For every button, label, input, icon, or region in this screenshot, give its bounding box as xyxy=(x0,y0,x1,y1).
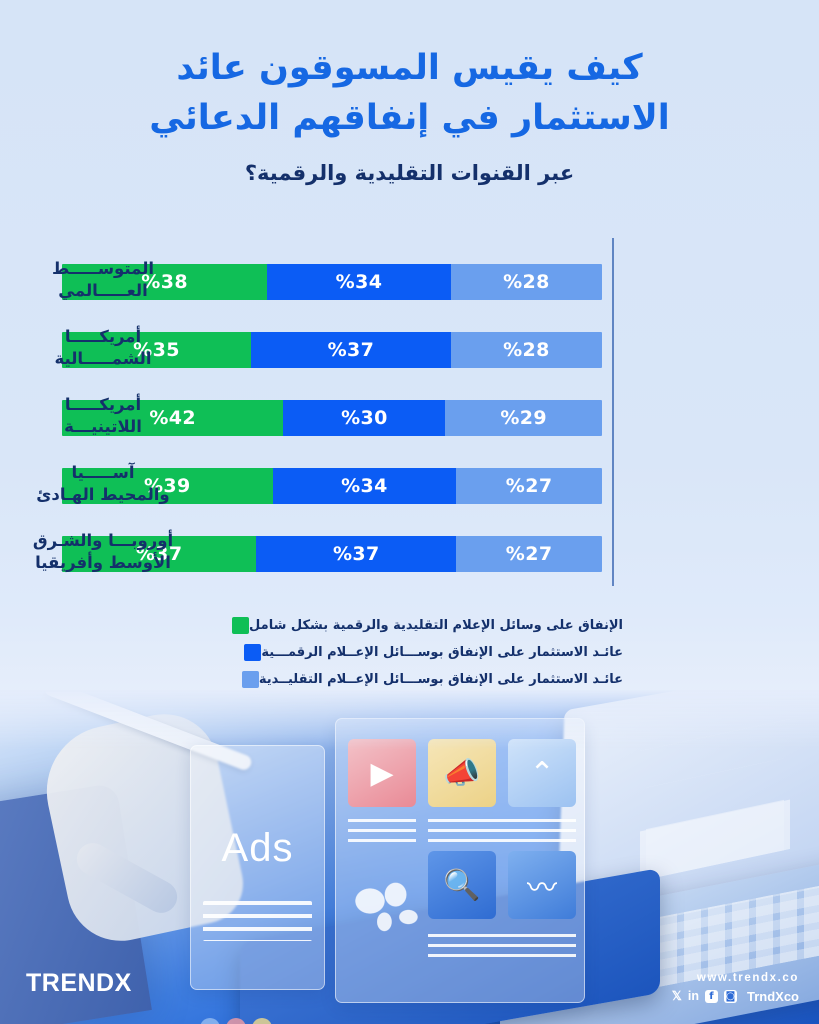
waveform-tile: 〰 xyxy=(508,851,576,919)
pie-dot-icon xyxy=(252,1018,272,1024)
bar-segment-digital: %34 xyxy=(273,468,457,504)
photo-top-fade xyxy=(0,690,819,750)
title-line-1: كيف يقيس المسوقون عائد xyxy=(70,44,749,94)
website-url[interactable]: www.trendx.co xyxy=(672,972,799,984)
legend-item-digital: عائـد الاستثمار على الإنفاق بوســـائل ال… xyxy=(220,639,623,666)
category-label-line: اللاتينيـــة xyxy=(10,416,196,438)
legend-item-traditional: عائـد الاستثمار على الإنفاق بوســـائل ال… xyxy=(220,666,623,693)
waveform-icon: 〰 xyxy=(508,851,576,919)
footer-contact: www.trendx.co 𝕏 in f ◙ TrndXco xyxy=(672,972,799,1004)
legend-item-overall: الإنفاق على وسائل الإعلام التقليدية والر… xyxy=(220,612,623,639)
brand-logo: TRENDX xyxy=(26,969,132,998)
category-label-line: آســـــيا xyxy=(10,462,196,484)
chart-rows: %28 %34 %38 المتوســـــط العـــــالمي %2… xyxy=(0,238,819,578)
legend-swatch-blue xyxy=(244,644,261,661)
pie-dot-icon xyxy=(226,1018,246,1024)
bar-segment-traditional: %28 xyxy=(451,332,602,368)
bar-segment-digital: %37 xyxy=(251,332,451,368)
card-text-lines xyxy=(348,819,416,849)
category-label-line: أمريكـــــا xyxy=(10,326,196,348)
chart-row: %28 %37 %35 أمريكـــــا الشمـــــالية xyxy=(0,306,819,374)
category-label: أوروبـــا والشـرق الأوسط وأفريقيا xyxy=(10,530,196,574)
page-subtitle: عبر القنوات التقليدية والرقمية؟ xyxy=(70,159,749,188)
bar-segment-digital: %37 xyxy=(256,536,456,572)
social-links: 𝕏 in f ◙ TrndXco xyxy=(672,989,799,1004)
ads-card: Ads xyxy=(190,745,325,990)
card-text-lines xyxy=(428,934,576,964)
title-line-2: الاستثمار في إنفاقهم الدعائي xyxy=(70,94,749,144)
chart-legend: الإنفاق على وسائل الإعلام التقليدية والر… xyxy=(220,612,623,693)
category-label-line: أوروبـــا والشـرق xyxy=(10,530,196,552)
page-title: كيف يقيس المسوقون عائد الاستثمار في إنفا… xyxy=(70,44,749,143)
legend-label: عائـد الاستثمار على الإنفاق بوســـائل ال… xyxy=(261,645,623,660)
bar-segment-traditional: %29 xyxy=(445,400,602,436)
chart-row: %28 %34 %38 المتوســـــط العـــــالمي xyxy=(0,238,819,306)
social-handle[interactable]: TrndXco xyxy=(747,989,799,1004)
x-icon[interactable]: 𝕏 xyxy=(672,990,682,1003)
pie-dot-icon xyxy=(200,1018,220,1024)
mini-stats-group xyxy=(200,1012,320,1024)
search-icon: 🔍 xyxy=(428,851,496,919)
facebook-icon[interactable]: f xyxy=(705,990,718,1003)
category-label: آســـــيا والمحيط الهـادئ xyxy=(10,462,196,506)
chart-row: %27 %34 %39 آســـــيا والمحيط الهـادئ xyxy=(0,442,819,510)
icon-grid-card: ▶ 📣 ⌃ 🔍 〰 xyxy=(335,718,585,1003)
stacked-bar-chart: %28 %34 %38 المتوســـــط العـــــالمي %2… xyxy=(0,238,819,588)
legend-label: الإنفاق على وسائل الإعلام التقليدية والر… xyxy=(249,618,623,633)
bar-segment-digital: %30 xyxy=(283,400,445,436)
category-label-line: والمحيط الهـادئ xyxy=(10,484,196,506)
linkedin-icon[interactable]: in xyxy=(688,990,699,1003)
chart-row: %29 %30 %42 أمريكـــــا اللاتينيـــة xyxy=(0,374,819,442)
legend-swatch-light-blue xyxy=(242,671,259,688)
bar-segment-digital: %34 xyxy=(267,264,451,300)
category-label-line: الأوسط وأفريقيا xyxy=(10,552,196,574)
category-label: أمريكـــــا اللاتينيـــة xyxy=(10,394,196,438)
bar-segment-traditional: %28 xyxy=(451,264,602,300)
instagram-icon[interactable]: ◙ xyxy=(724,990,737,1003)
ads-card-lines xyxy=(203,901,312,941)
legend-label: عائـد الاستثمار على الإنفاق بوســـائل ال… xyxy=(259,672,623,687)
header: كيف يقيس المسوقون عائد الاستثمار في إنفا… xyxy=(0,44,819,189)
legend-swatch-green xyxy=(232,617,249,634)
chart-row: %27 %37 %37 أوروبـــا والشـرق الأوسط وأف… xyxy=(0,510,819,578)
infographic-poster: كيف يقيس المسوقون عائد الاستثمار في إنفا… xyxy=(0,0,819,1024)
category-label-line: المتوســـــط xyxy=(10,258,196,280)
category-label-line: العـــــالمي xyxy=(10,280,196,302)
category-label-line: أمريكـــــا xyxy=(10,394,196,416)
world-map-icon xyxy=(346,869,426,949)
bar-segment-traditional: %27 xyxy=(456,468,602,504)
category-label: أمريكـــــا الشمـــــالية xyxy=(10,326,196,370)
card-text-lines xyxy=(428,819,576,849)
search-tile: 🔍 xyxy=(428,851,496,919)
ads-card-label: Ads xyxy=(191,826,324,871)
category-label-line: الشمـــــالية xyxy=(10,348,196,370)
category-label: المتوســـــط العـــــالمي xyxy=(10,258,196,302)
bar-segment-traditional: %27 xyxy=(456,536,602,572)
